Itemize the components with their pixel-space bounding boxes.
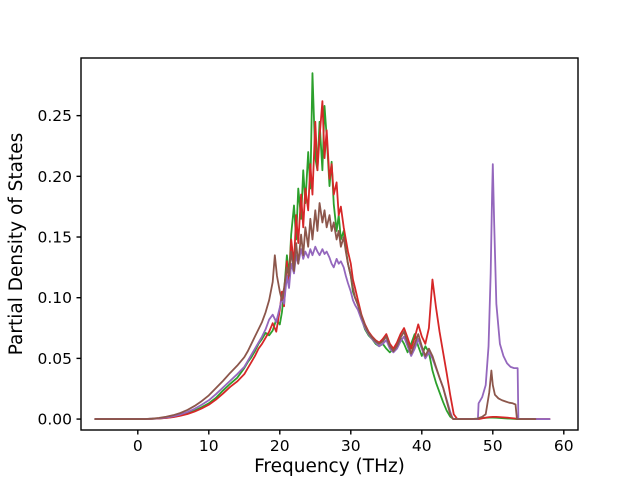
axes-background [81, 58, 578, 430]
x-tick-label: 40 [412, 437, 432, 455]
x-tick-label: 50 [483, 437, 503, 455]
figure-canvas: 0102030405060 0.000.050.100.150.200.25 F… [0, 0, 640, 480]
x-tick-label: 30 [341, 437, 361, 455]
y-axis-label: Partial Density of States [6, 133, 27, 356]
y-tick-label: 0.25 [37, 107, 72, 125]
x-tick-label: 60 [554, 437, 574, 455]
partial-dos-plot: 0102030405060 0.000.050.100.150.200.25 F… [0, 0, 640, 480]
y-tick-label: 0.15 [37, 229, 72, 247]
x-tick-label: 0 [133, 437, 143, 455]
x-tick-label: 10 [199, 437, 219, 455]
x-tick-label: 20 [270, 437, 290, 455]
y-tick-label: 0.10 [37, 289, 72, 307]
y-tick-label: 0.00 [37, 411, 72, 429]
y-tick-label: 0.05 [37, 350, 72, 368]
y-tick-label: 0.20 [37, 168, 72, 186]
x-axis-label: Frequency (THz) [254, 456, 405, 477]
